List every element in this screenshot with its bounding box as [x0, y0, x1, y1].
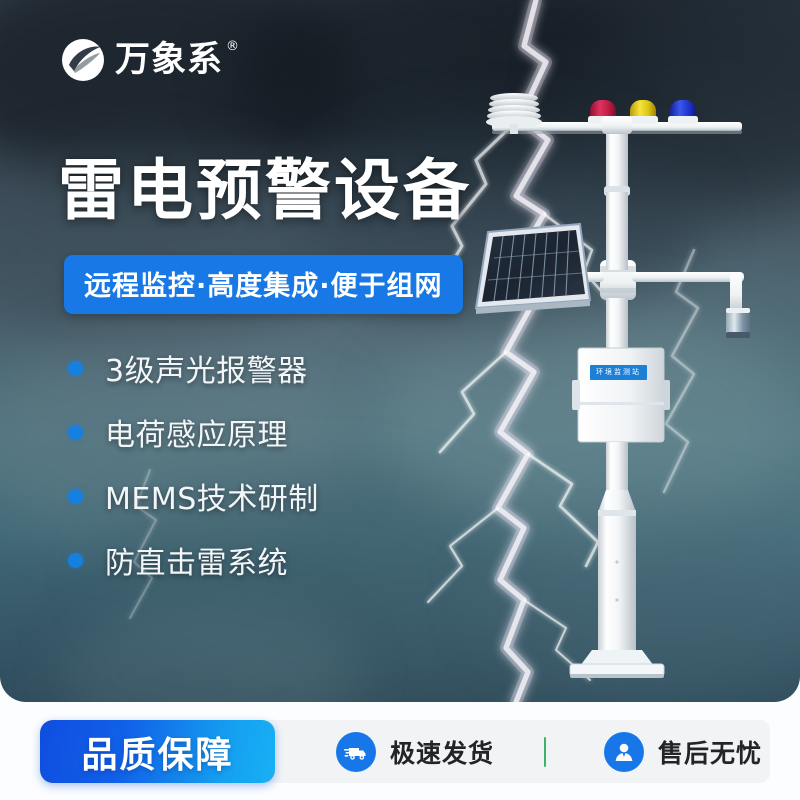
control-box: [572, 348, 670, 442]
trust-bar: 品质保障 极速发货: [0, 706, 800, 800]
feature-item: 3级声光报警器: [68, 346, 319, 390]
customer-service-icon: [604, 732, 644, 772]
feature-label: 3级声光报警器: [105, 346, 308, 390]
trust-item-fast-shipping[interactable]: 极速发货: [336, 732, 494, 772]
pole-base-flange: [570, 650, 664, 678]
after-sales-label: 售后无忧: [658, 734, 762, 770]
fast-shipping-label: 极速发货: [390, 734, 494, 770]
alarm-beacon-yellow: [628, 100, 658, 124]
page-title: 雷电预警设备: [58, 158, 472, 224]
feature-label: 防直击雷系统: [105, 538, 288, 582]
brand-name-text: 万象系: [115, 40, 223, 80]
alarm-beacon-blue: [668, 100, 698, 124]
trust-strip: 极速发货 售后无忧: [258, 720, 770, 783]
bullet-dot-icon: [68, 553, 83, 568]
trust-divider: [544, 737, 546, 767]
trust-item-after-sales[interactable]: 售后无忧: [604, 732, 762, 772]
control-box-label: 环境监测站: [590, 365, 647, 380]
hero-banner: 环境监测站 万象系 ® 雷电预警设备 远程监控·高度集成·便于组网 3: [0, 0, 800, 702]
feature-item: MEMS技术研制: [68, 474, 319, 518]
feature-list: 3级声光报警器 电荷感应原理 MEMS技术研制 防直击雷系统: [68, 346, 319, 602]
bullet-dot-icon: [68, 425, 83, 440]
subtitle-banner: 远程监控·高度集成·便于组网: [64, 255, 463, 314]
quality-assurance-badge[interactable]: 品质保障: [40, 720, 275, 783]
brand-name: 万象系 ®: [115, 43, 223, 78]
circular-swoosh-logo-icon: [60, 37, 106, 83]
promo-page: 环境监测站 万象系 ® 雷电预警设备 远程监控·高度集成·便于组网 3: [0, 0, 800, 800]
bullet-dot-icon: [68, 361, 83, 376]
brand-logo: 万象系 ®: [60, 38, 223, 82]
solar-panel: [476, 224, 590, 314]
delivery-truck-icon: [336, 732, 376, 772]
registered-mark: ®: [226, 40, 240, 53]
quality-assurance-label: 品质保障: [81, 726, 233, 778]
downward-sensor: [726, 308, 750, 338]
feature-label: MEMS技术研制: [105, 474, 319, 518]
feature-label: 电荷感应原理: [105, 410, 288, 454]
product-image: 环境监测站: [430, 80, 800, 700]
bullet-dot-icon: [68, 489, 83, 504]
feature-item: 防直击雷系统: [68, 538, 319, 582]
feature-item: 电荷感应原理: [68, 410, 319, 454]
